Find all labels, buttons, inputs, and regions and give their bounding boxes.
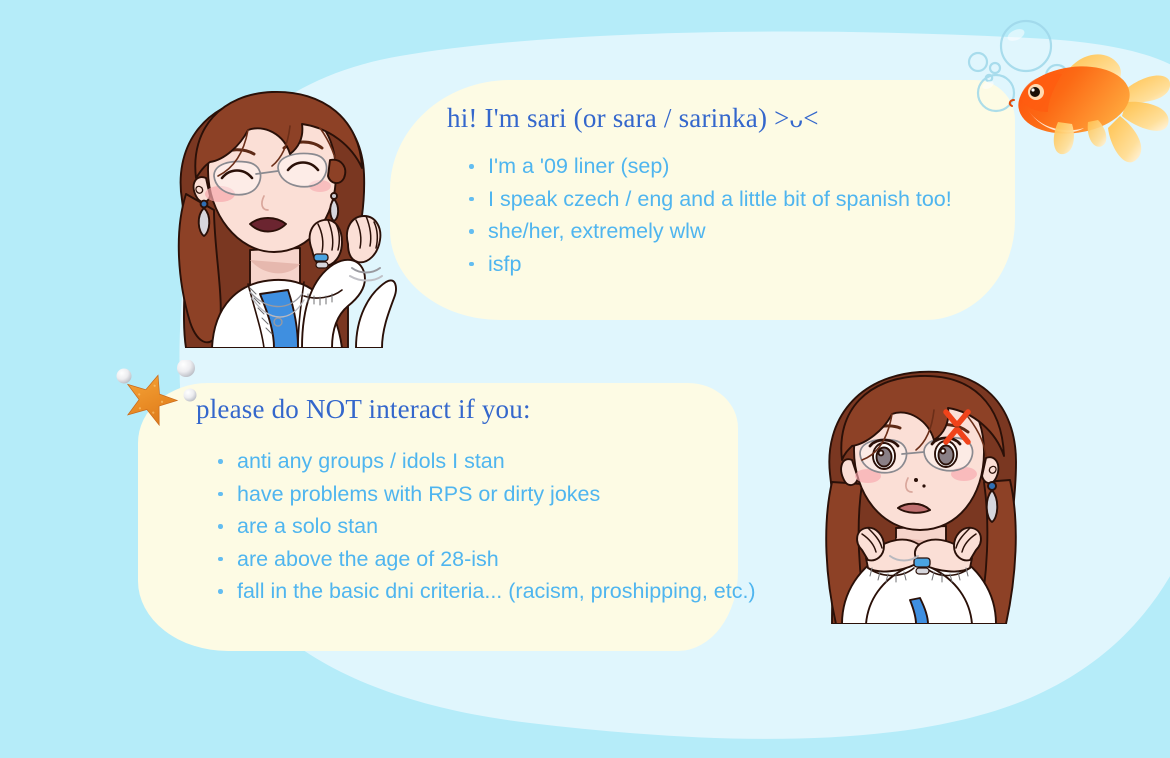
dni-bullet-text: have problems with RPS or dirty jokes bbox=[237, 482, 600, 506]
dni-bullet-text: anti any groups / idols I stan bbox=[237, 449, 505, 473]
dni-heading: please do NOT interact if you: bbox=[196, 394, 531, 425]
dni-bullet-text: fall in the basic dni criteria... (racis… bbox=[237, 579, 756, 603]
character-x-arms bbox=[806, 362, 1036, 624]
intro-bullet-text: I'm a '09 liner (sep) bbox=[488, 154, 669, 178]
bullet-dot-icon bbox=[469, 197, 474, 202]
list-item: she/her, extremely wlw bbox=[463, 215, 983, 248]
profile-card-canvas: hi! I'm sari (or sara / sarinka) >ᴗ< I'm… bbox=[0, 0, 1170, 758]
bullet-dot-icon bbox=[218, 524, 223, 529]
dni-bullet-text: are a solo stan bbox=[237, 514, 378, 538]
bullet-dot-icon bbox=[469, 262, 474, 267]
dni-bullet-text: are above the age of 28-ish bbox=[237, 547, 499, 571]
list-item: are a solo stan bbox=[212, 510, 812, 543]
bullet-dot-icon bbox=[218, 557, 223, 562]
intro-bullet-text: she/her, extremely wlw bbox=[488, 219, 705, 243]
bullet-dot-icon bbox=[218, 492, 223, 497]
bullet-dot-icon bbox=[469, 229, 474, 234]
dni-bullet-list: anti any groups / idols I stan have prob… bbox=[212, 445, 812, 608]
goldfish-image bbox=[1002, 42, 1170, 172]
list-item: have problems with RPS or dirty jokes bbox=[212, 478, 812, 511]
bullet-dot-icon bbox=[469, 164, 474, 169]
intro-heading: hi! I'm sari (or sara / sarinka) >ᴗ< bbox=[447, 103, 819, 134]
list-item: I'm a '09 liner (sep) bbox=[463, 150, 983, 183]
intro-bullet-list: I'm a '09 liner (sep) I speak czech / en… bbox=[463, 150, 983, 280]
list-item: I speak czech / eng and a little bit of … bbox=[463, 183, 983, 216]
list-item: fall in the basic dni criteria... (racis… bbox=[212, 575, 812, 608]
character-heart-hands bbox=[152, 82, 398, 348]
list-item: isfp bbox=[463, 248, 983, 281]
list-item: anti any groups / idols I stan bbox=[212, 445, 812, 478]
list-item: are above the age of 28-ish bbox=[212, 543, 812, 576]
intro-bullet-text: I speak czech / eng and a little bit of … bbox=[488, 187, 952, 211]
bullet-dot-icon bbox=[218, 459, 223, 464]
intro-bullet-text: isfp bbox=[488, 252, 521, 276]
bullet-dot-icon bbox=[218, 589, 223, 594]
starfish-image bbox=[112, 360, 212, 432]
